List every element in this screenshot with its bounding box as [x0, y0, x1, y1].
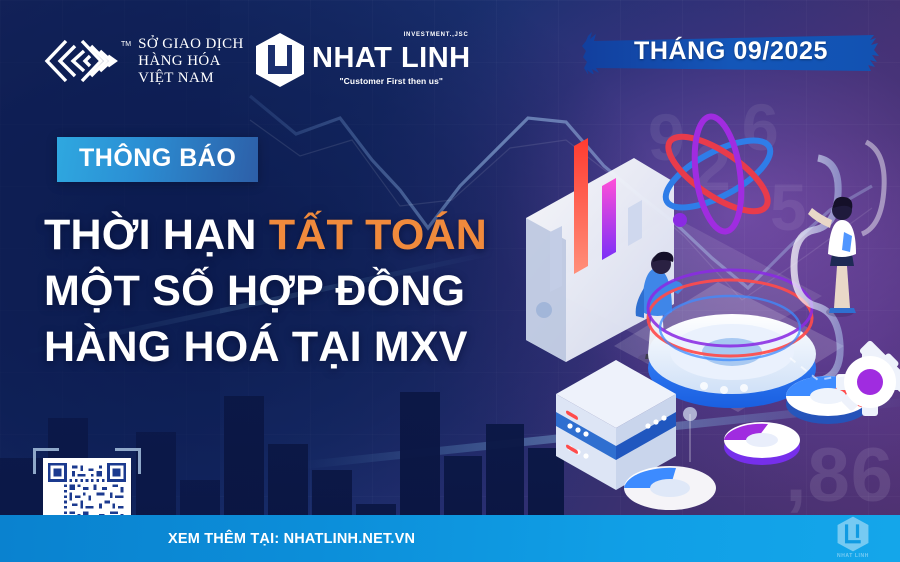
headline-line-2: MỘT SỐ HỢP ĐỒNG	[44, 264, 487, 320]
nhatlinh-hexagon-icon	[254, 32, 306, 88]
footer-cta-text[interactable]: XEM THÊM TẠI: NHATLINH.NET.VN	[168, 531, 415, 547]
headline-line-1-white: THỜI HẠN	[44, 211, 257, 259]
isometric-data-analytics-illustration	[522, 96, 900, 516]
date-badge: THÁNG 09/2025	[582, 28, 880, 74]
nhatlinh-hexagon-icon	[830, 516, 876, 552]
mxv-logo-line1: SỞ GIAO DỊCH	[138, 36, 244, 53]
poster-header: TM SỞ GIAO DỊCH HÀNG HÓA VIỆT NAM INVEST…	[0, 0, 900, 112]
footer-watermark-logo: NHAT LINH	[830, 516, 876, 562]
footer-watermark-name: NHAT LINH	[830, 553, 876, 559]
notice-tag-badge: THÔNG BÁO	[57, 137, 258, 182]
nhatlinh-name: NHAT LINH	[312, 44, 471, 73]
trademark-symbol: TM	[121, 41, 131, 48]
nhatlinh-slogan: "Customer First then us"	[312, 76, 471, 86]
date-badge-label: THÁNG 09/2025	[582, 28, 880, 74]
headline-line-1: THỜI HẠN TẤT TOÁN	[44, 208, 487, 264]
headline-line-1-orange: TẤT TOÁN	[269, 211, 487, 259]
mxv-logo-text: SỞ GIAO DỊCH HÀNG HÓA VIỆT NAM	[138, 36, 244, 86]
mxv-logo-line3: VIỆT NAM	[138, 70, 244, 87]
mxv-chevron-mark-icon	[44, 38, 118, 84]
nhatlinh-wordmark: INVESTMENT.,JSC NHAT LINH "Customer Firs…	[312, 34, 471, 86]
poster-footer: XEM THÊM TẠI: NHATLINH.NET.VN NHAT LINH	[0, 515, 900, 562]
mxv-logo: TM SỞ GIAO DỊCH HÀNG HÓA VIỆT NAM	[44, 36, 244, 86]
nhatlinh-logo: INVESTMENT.,JSC NHAT LINH "Customer Firs…	[254, 32, 471, 88]
headline-block: THỜI HẠN TẤT TOÁN MỘT SỐ HỢP ĐỒNG HÀNG H…	[44, 208, 487, 376]
headline-line-3: HÀNG HOÁ TẠI MXV	[44, 320, 487, 376]
nhatlinh-superscript: INVESTMENT.,JSC	[404, 32, 469, 38]
announcement-poster: 9 2 6 5 ,86	[0, 0, 900, 562]
mxv-logo-line2: HÀNG HÓA	[138, 53, 244, 70]
